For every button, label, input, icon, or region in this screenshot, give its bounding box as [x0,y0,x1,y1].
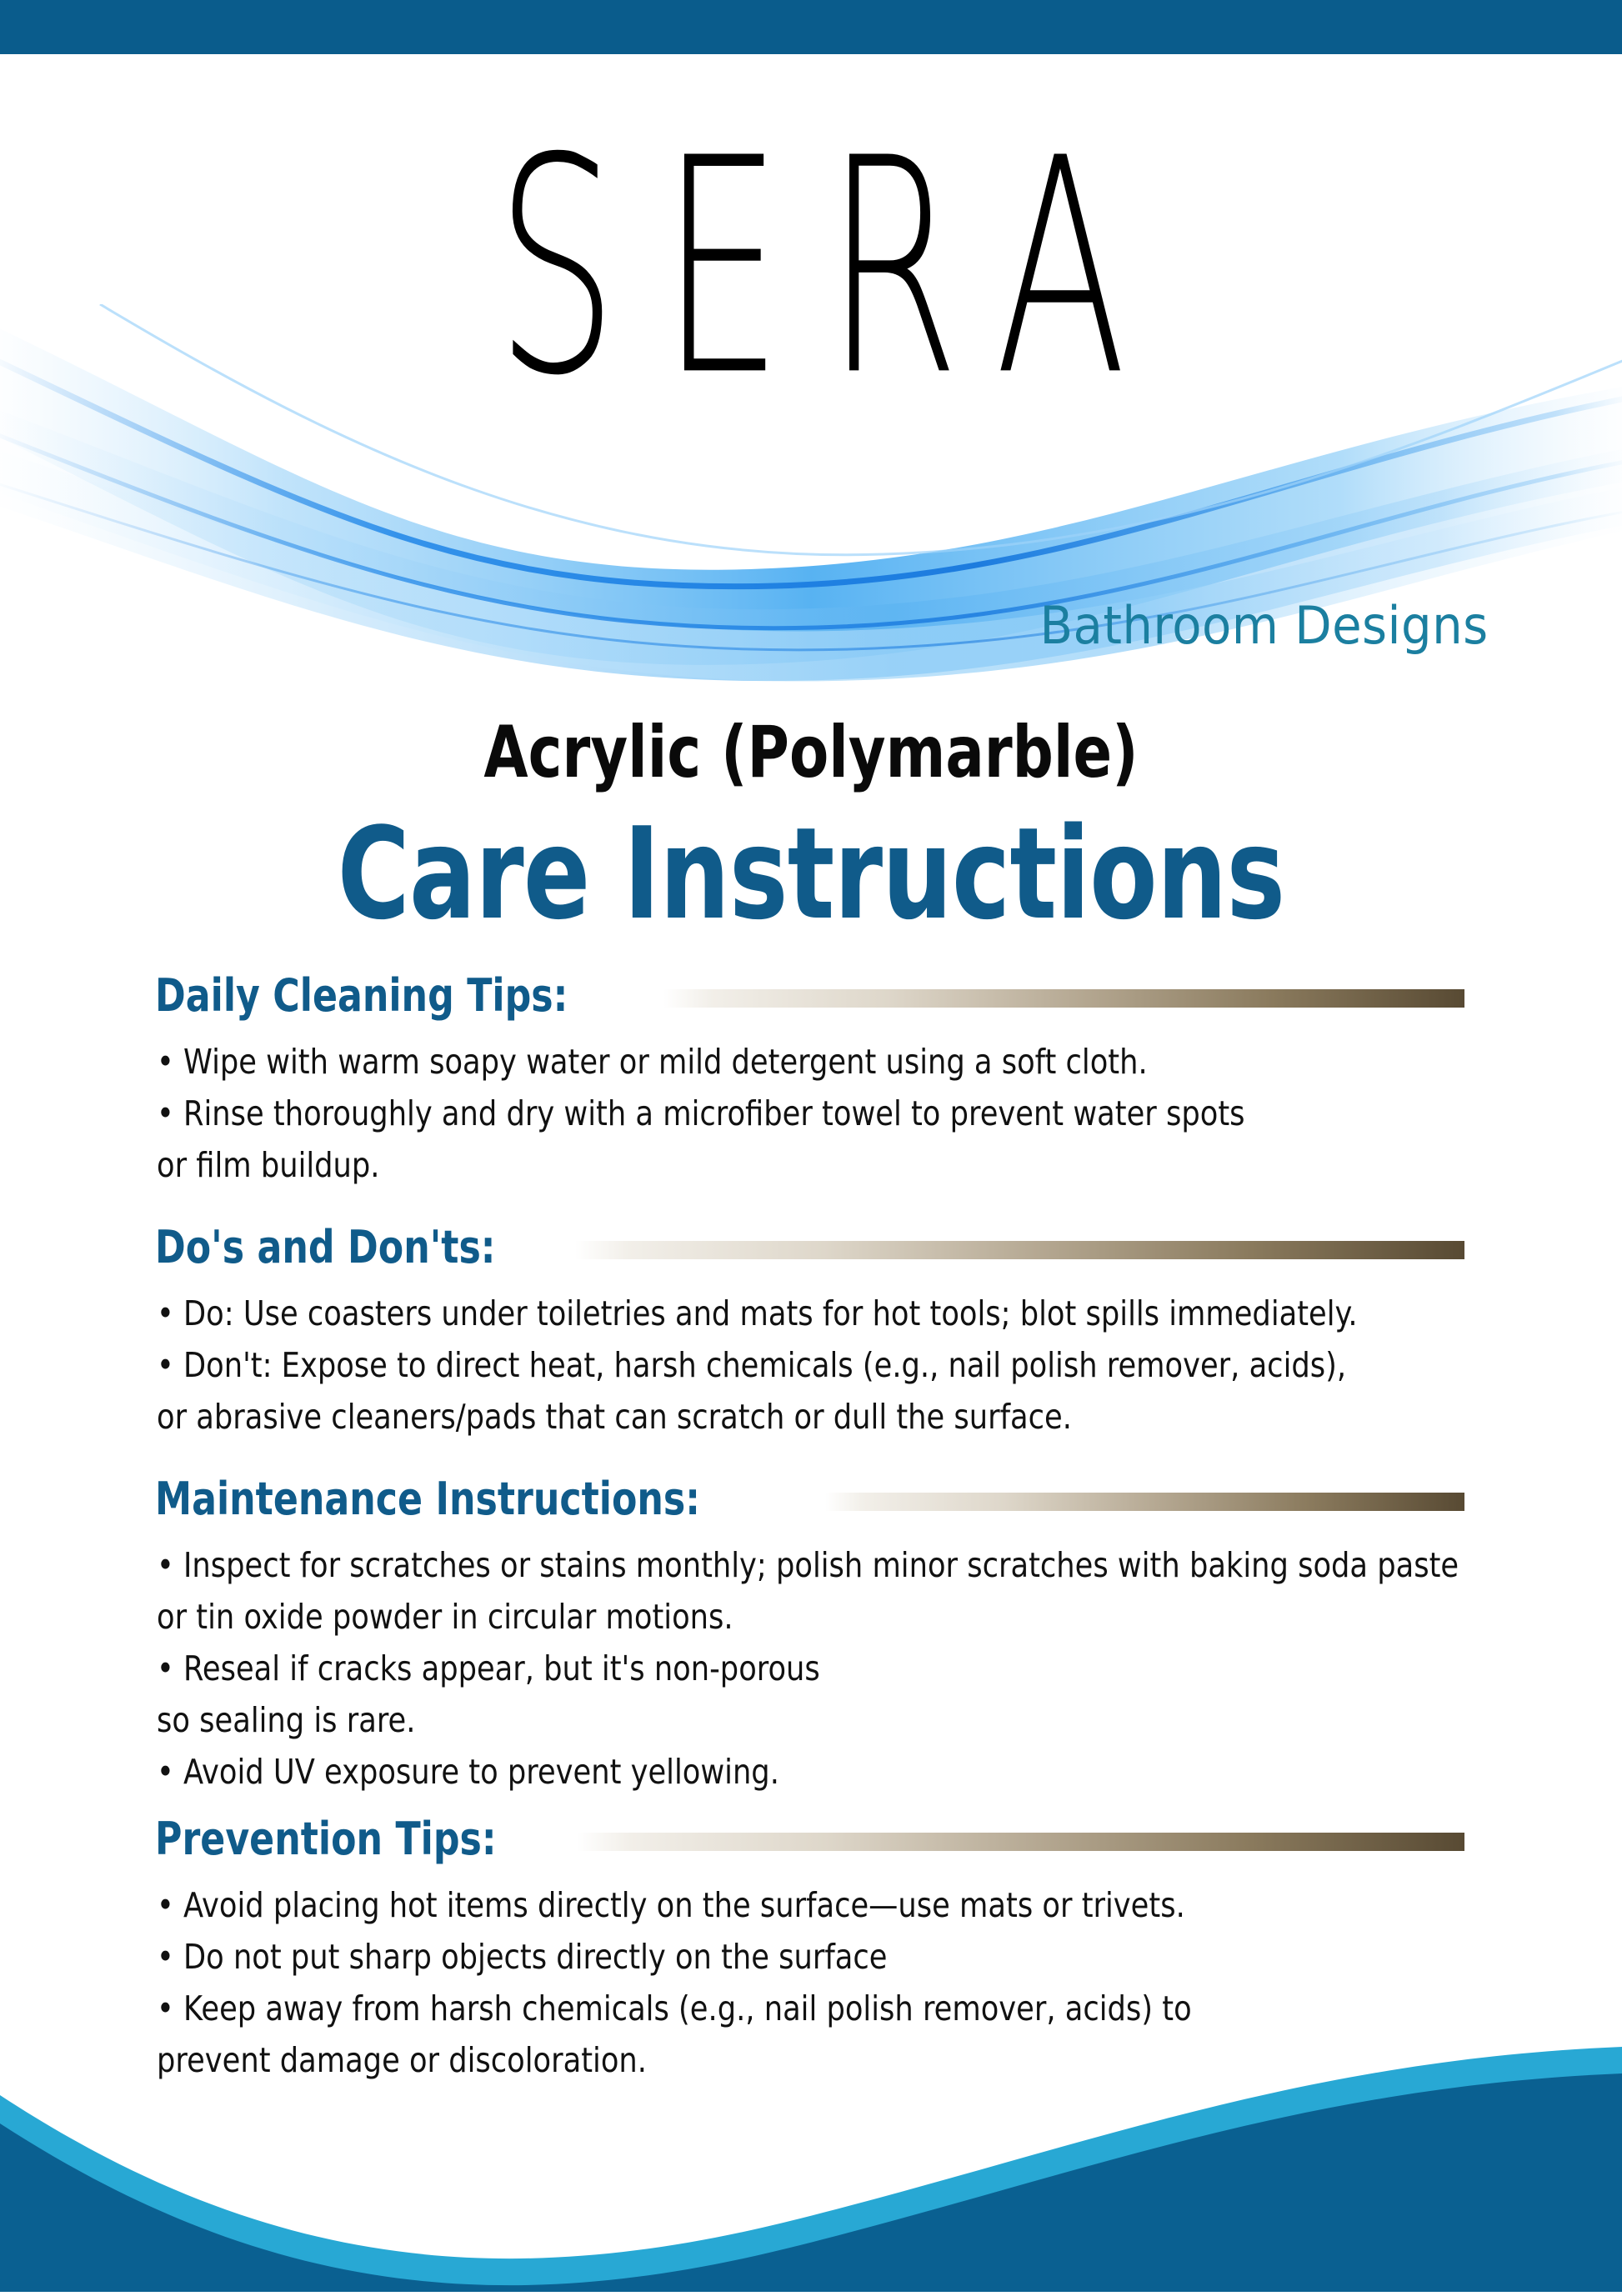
section-divider-rule [577,1833,1465,1851]
section-divider-rule [575,1241,1464,1259]
list-item: • Don't: Expose to direct heat, harsh ch… [157,1340,1359,1390]
bullet-list: • Avoid placing hot items directly on th… [0,1868,1622,2085]
bullet-list: • Do: Use coasters under toiletries and … [0,1277,1622,1442]
care-instructions-content: Daily Cleaning Tips: • Wipe with warm so… [0,967,1622,2087]
page-title: Care Instructions [178,807,1444,942]
list-item: or film buildup. [157,1140,1359,1190]
footer-wave-dark [0,2073,1622,2292]
sera-logo-wordmark: SERA [243,119,1379,416]
list-item: so sealing is rare. [157,1695,1359,1745]
list-item: • Keep away from harsh chemicals (e.g., … [157,1983,1359,2033]
list-item: prevent damage or discoloration. [157,2035,1359,2085]
section-header: Maintenance Instructions: [0,1470,1622,1528]
list-item: • Do: Use coasters under toiletries and … [157,1288,1359,1338]
list-item: or tin oxide powder in circular motions. [157,1592,1359,1642]
section-spacer [0,1192,1622,1218]
brand-header: SERA [0,54,1622,688]
section-prevention-tips: Prevention Tips: • Avoid placing hot ite… [0,1810,1622,2085]
section-header: Prevention Tips: [0,1810,1622,1868]
top-accent-bar [0,0,1622,54]
list-item: or abrasive cleaners/pads that can scrat… [157,1392,1359,1442]
bullet-list: • Inspect for scratches or stains monthl… [0,1528,1622,1797]
list-item: • Wipe with warm soapy water or mild det… [157,1037,1359,1087]
bullet-list: • Wipe with warm soapy water or mild det… [0,1025,1622,1190]
section-heading-label: Prevention Tips: [155,1817,497,1862]
list-item: • Do not put sharp objects directly on t… [157,1932,1359,1982]
list-item: • Inspect for scratches or stains monthl… [157,1540,1359,1590]
list-item: • Reseal if cracks appear, but it's non-… [157,1643,1359,1693]
section-divider-rule [663,989,1464,1008]
section-maintenance-instructions: Maintenance Instructions: • Inspect for … [0,1470,1622,1797]
section-header: Do's and Don'ts: [0,1218,1622,1277]
section-spacer [0,1443,1622,1470]
section-heading-label: Do's and Don'ts: [155,1225,496,1270]
section-spacer [0,1798,1622,1810]
section-heading-label: Maintenance Instructions: [155,1477,700,1522]
list-item: • Rinse thoroughly and dry with a microf… [157,1088,1359,1138]
list-item: • Avoid placing hot items directly on th… [157,1880,1359,1930]
section-dos-and-donts: Do's and Don'ts: • Do: Use coasters unde… [0,1218,1622,1442]
section-header: Daily Cleaning Tips: [0,967,1622,1025]
brand-tagline: Bathroom Designs [1040,600,1489,652]
section-heading-label: Daily Cleaning Tips: [155,973,568,1018]
list-item: • Avoid UV exposure to prevent yellowing… [157,1747,1359,1797]
section-divider-rule [825,1493,1464,1511]
section-daily-cleaning-tips: Daily Cleaning Tips: • Wipe with warm so… [0,967,1622,1190]
document-subtitle: Acrylic (Polymarble) [163,713,1460,793]
